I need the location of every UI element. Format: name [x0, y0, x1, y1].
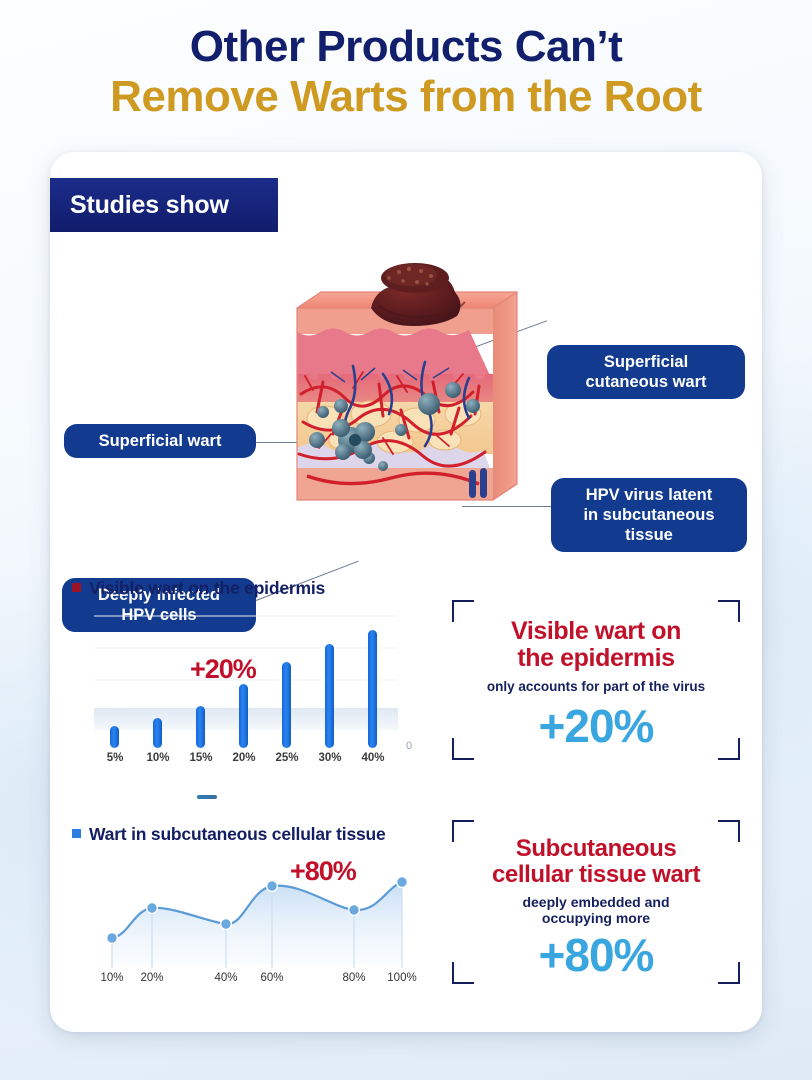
studies-show-label: Studies show [70, 191, 229, 220]
callout-title: Visible wart on the epidermis [452, 600, 740, 672]
callout-text: Superficial wart [99, 431, 222, 451]
callout-hpv-virus-latent[interactable]: HPV virus latent in subcutaneous tissue [551, 478, 747, 552]
bracket-top-left [452, 600, 474, 622]
bracket-bottom-right [718, 962, 740, 984]
bracket-bottom-left [452, 738, 474, 760]
callout-superficial-wart[interactable]: Superficial wart [64, 424, 256, 458]
bracket-top-right [718, 600, 740, 622]
callout-title: Subcutaneous cellular tissue wart [452, 820, 740, 888]
line-chart [90, 852, 420, 982]
line-chart-annotation: +80% [290, 856, 356, 887]
content-card: Studies show [50, 152, 762, 1032]
section-title-subcutaneous: Wart in subcutaneous cellular tissue [72, 824, 386, 845]
callout-text: HPV virus latent in subcutaneous tissue [583, 485, 714, 545]
callout-big-number: +80% [452, 932, 740, 978]
bar-chart-annotation: +20% [190, 654, 256, 685]
bullet-square-icon [72, 583, 81, 592]
skin-block-illustration [283, 262, 531, 524]
studies-show-badge: Studies show [50, 178, 278, 232]
bracket-top-left [452, 820, 474, 842]
page-headline: Other Products Can’t Remove Warts from t… [0, 24, 812, 121]
callout-box-subcutaneous: Subcutaneous cellular tissue wart deeply… [452, 820, 740, 984]
callout-superficial-cutaneous-wart[interactable]: Superficial cutaneous wart [547, 345, 745, 399]
headline-line-2: Remove Warts from the Root [0, 73, 812, 121]
callout-big-number: +20% [452, 703, 740, 749]
bullet-square-icon [72, 829, 81, 838]
bracket-top-right [718, 820, 740, 842]
line-chart-x-axis: 10% 20% 40% 60% 80% 100% [90, 972, 420, 990]
callout-text: Superficial cutaneous wart [585, 352, 706, 392]
section-title-visible-wart: Visible wart on the epidermis [72, 578, 325, 599]
bar-chart-x-axis: 5% 10% 15% 20% 25% 30% 40% [86, 752, 406, 770]
callout-box-visible-wart: Visible wart on the epidermis only accou… [452, 600, 740, 760]
bar-chart-zero-label: 0 [406, 740, 412, 752]
bracket-bottom-left [452, 962, 474, 984]
callout-subtitle: deeply embedded and occupying more [452, 894, 740, 926]
bracket-bottom-right [718, 738, 740, 760]
callout-subtitle: only accounts for part of the virus [452, 679, 740, 695]
headline-line-1: Other Products Can’t [0, 24, 812, 71]
bar-chart-legend-dash [197, 795, 217, 799]
